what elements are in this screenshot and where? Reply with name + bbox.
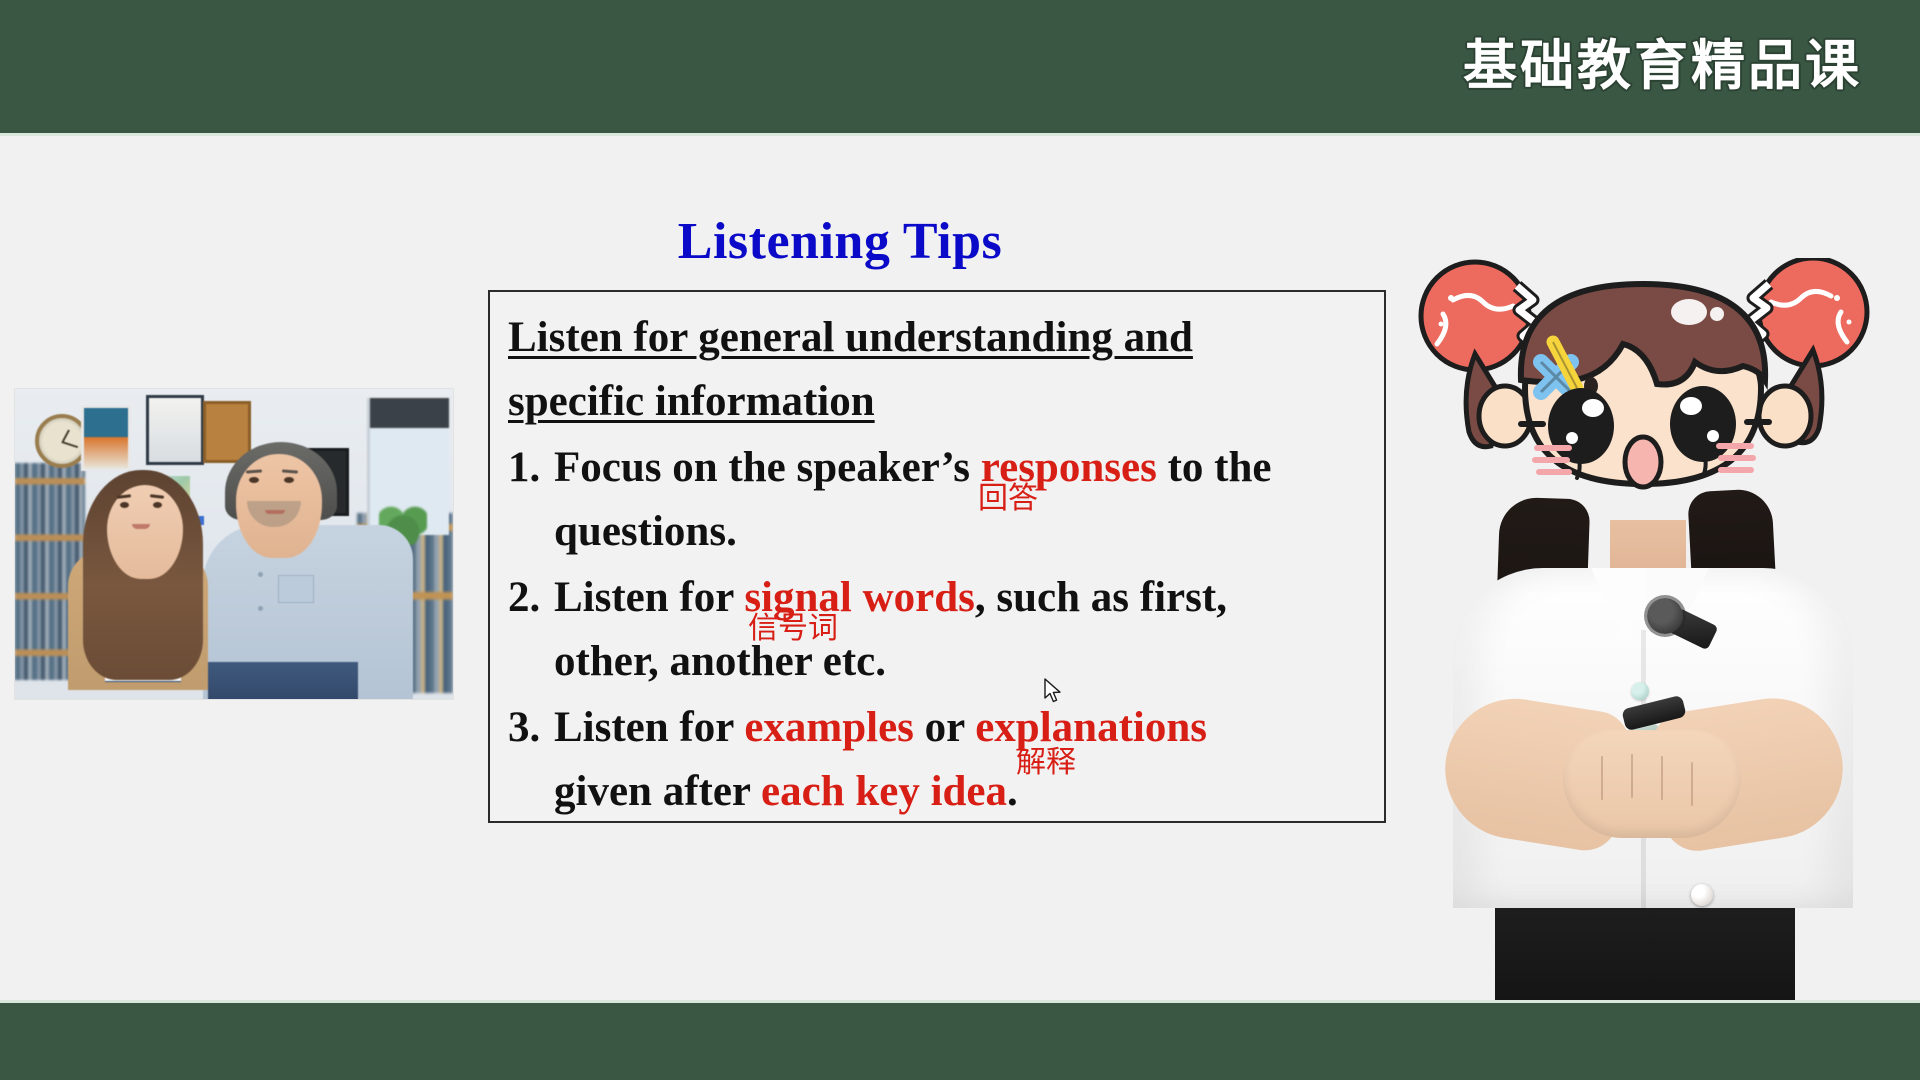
man-jeans <box>208 662 358 699</box>
tip-text-3: Listen for examples or explanations give… <box>554 696 1374 824</box>
tip-3-highlight-2: explanations <box>975 704 1207 751</box>
tip-2-post: , such as first, <box>975 574 1227 621</box>
tip-item-3: 3. Listen for examples or explanations g… <box>508 696 1374 824</box>
tip-text-2: Listen for signal words, such as first, … <box>554 566 1374 694</box>
man-mouth <box>265 510 285 514</box>
tip-number-1: 1. <box>508 436 554 564</box>
bottom-green-band <box>0 1000 1920 1080</box>
finger-line <box>1601 756 1603 800</box>
tip-1-chinese-gloss: 回答 <box>978 484 1038 514</box>
microphone-windscreen <box>1647 598 1683 634</box>
tip-1-line2: questions. <box>554 508 737 555</box>
tip-text-1: Focus on the speaker’s responses to the … <box>554 436 1374 564</box>
wall-poster <box>81 405 131 471</box>
presenter-hands <box>1563 730 1741 838</box>
tip-3-line2-pre: given after <box>554 768 761 815</box>
top-green-band: 基础教育精品课 <box>0 0 1920 136</box>
finger-line <box>1661 756 1663 800</box>
finger-line <box>1691 762 1693 806</box>
girl-face <box>107 485 183 579</box>
tips-heading-line-1: Listen for general understanding and <box>508 306 1374 370</box>
hair-shine <box>1671 299 1707 325</box>
tips-heading-line-2: specific information <box>508 370 1374 434</box>
wall-poster <box>146 395 204 465</box>
tip-3-chinese-gloss: 解释 <box>1016 748 1076 778</box>
classroom-photo-image <box>15 389 453 699</box>
tip-1-post: to the <box>1157 444 1272 491</box>
tips-content-inner: Listen for general understanding and spe… <box>508 306 1374 824</box>
tip-2-chinese-gloss: 信号词 <box>748 614 838 644</box>
man-eyebrow <box>246 469 262 473</box>
presenter-blouse-button <box>1631 682 1649 700</box>
finger-line <box>1631 754 1633 798</box>
tip-2-line2: other, another etc. <box>554 638 886 685</box>
tip-3-pre: Listen for <box>554 704 744 751</box>
tip-number-3: 3. <box>508 696 554 824</box>
tip-item-2: 2. Listen for signal words, such as firs… <box>508 566 1374 694</box>
man-shirt-pocket <box>278 575 314 603</box>
eye-left <box>1548 388 1614 464</box>
tip-3-highlight: examples <box>744 704 914 751</box>
brand-logo-text: 基础教育精品课 <box>1463 36 1862 96</box>
ear-right <box>1759 386 1811 446</box>
tip-3-mid: or <box>914 704 975 751</box>
classroom-photo <box>14 388 454 700</box>
man-eyebrow <box>282 469 298 473</box>
cartoon-face-sticker <box>1413 258 1877 550</box>
tips-content-box: Listen for general understanding and spe… <box>488 290 1386 823</box>
slide-stage: 基础教育精品课 Listening Tips <box>0 0 1920 1080</box>
tip-3-line2-highlight: each key idea <box>761 768 1007 815</box>
man-shirt-button <box>258 572 263 577</box>
tip-2-pre: Listen for <box>554 574 744 621</box>
presenter-skirt-button <box>1691 884 1713 906</box>
tip-item-1: 1. Focus on the speaker’s responses to t… <box>508 436 1374 564</box>
mouth-open <box>1625 437 1661 487</box>
tip-number-2: 2. <box>508 566 554 694</box>
eye-right <box>1670 386 1736 462</box>
tip-1-pre: Focus on the speaker’s <box>554 444 981 491</box>
girl-mouth <box>132 524 150 529</box>
